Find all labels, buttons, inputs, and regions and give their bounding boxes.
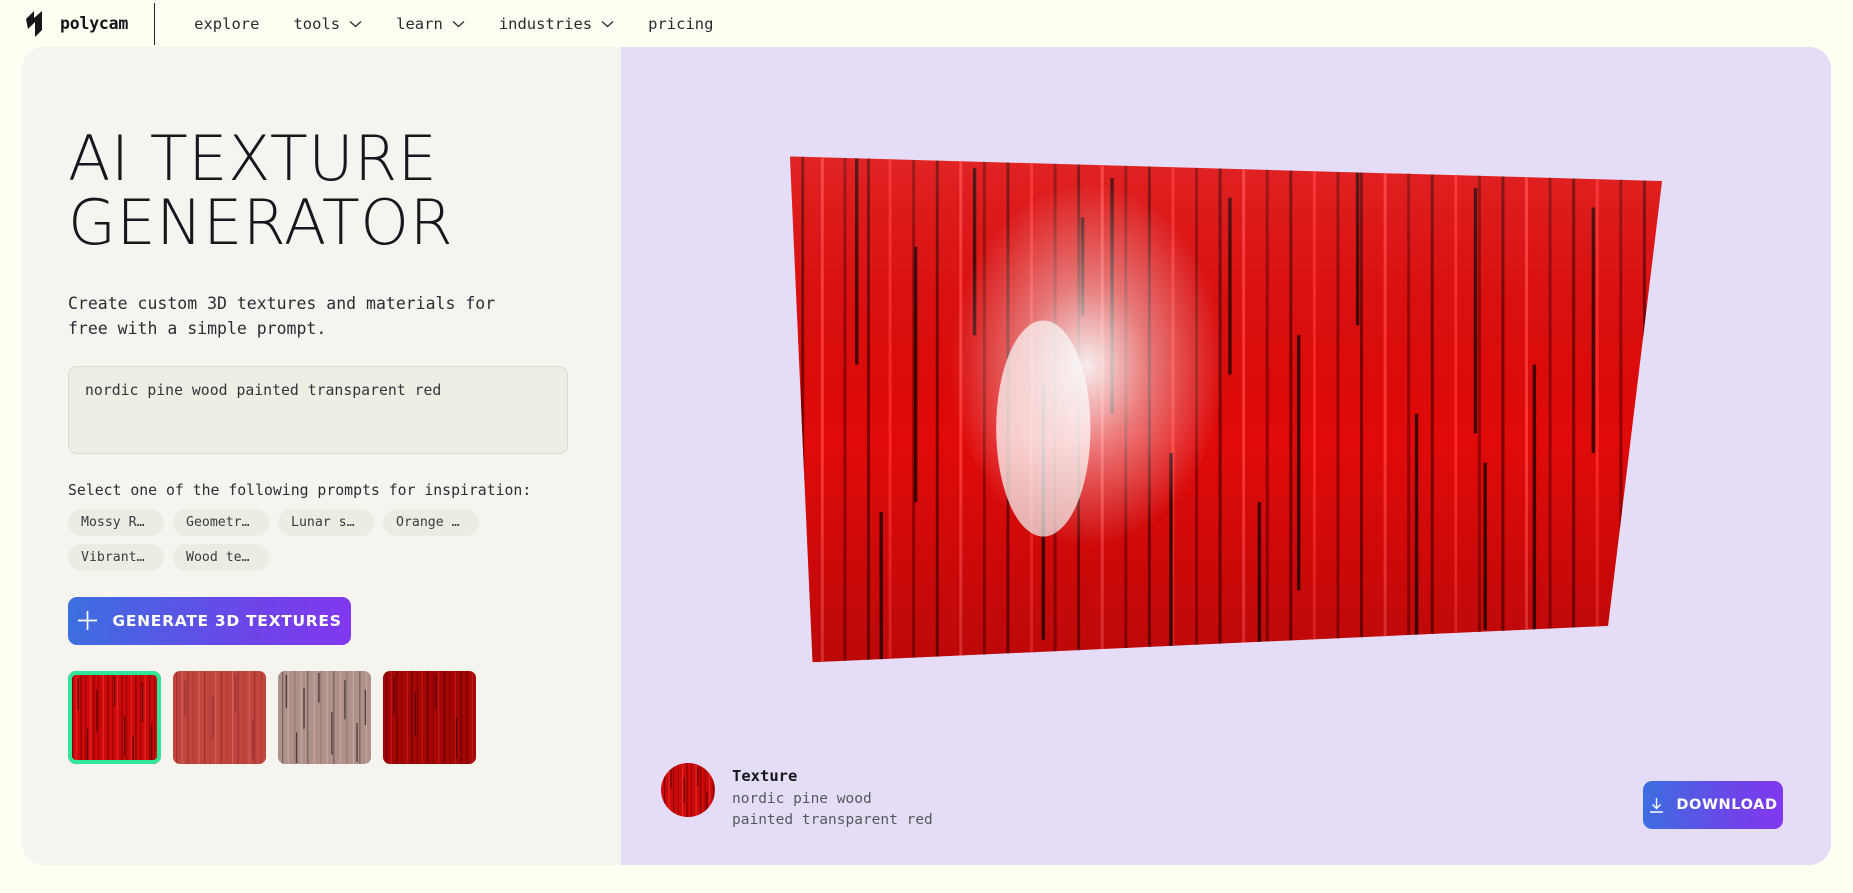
texture-results-list bbox=[68, 671, 542, 764]
page-title-line2: GENERATOR bbox=[68, 186, 453, 259]
chevron-down-icon bbox=[452, 20, 465, 28]
polycam-logo-icon bbox=[22, 10, 48, 38]
inspiration-chip[interactable]: Orange peel… bbox=[383, 509, 479, 536]
page-title: AI TEXTURE GENERATOR bbox=[68, 127, 542, 255]
texture-thumbnail-3[interactable] bbox=[278, 671, 371, 764]
nav-item-label: industries bbox=[499, 15, 592, 33]
chevron-down-icon bbox=[601, 20, 614, 28]
inspiration-chip[interactable]: Mossy Runic… bbox=[68, 509, 164, 536]
generator-content: AI TEXTURE GENERATOR Create custom 3D te… bbox=[22, 47, 542, 764]
top-navigation-bar: polycam explore tools learn industries p… bbox=[0, 0, 1853, 47]
nav-item-explore[interactable]: explore bbox=[177, 9, 276, 39]
texture-info-text: Texture nordic pine wood painted transpa… bbox=[732, 763, 937, 831]
nav-item-learn[interactable]: learn bbox=[379, 9, 482, 39]
main-stage: AI TEXTURE GENERATOR Create custom 3D te… bbox=[0, 47, 1853, 893]
inspiration-chip[interactable]: Lunar surfa… bbox=[278, 509, 374, 536]
inspiration-chip[interactable]: Geometric w… bbox=[173, 509, 269, 536]
nav-item-industries[interactable]: industries bbox=[482, 9, 631, 39]
prompt-input[interactable] bbox=[68, 366, 568, 454]
inspiration-chip[interactable]: Wood textur… bbox=[173, 544, 269, 571]
texture-info-overlay: Texture nordic pine wood painted transpa… bbox=[661, 763, 937, 831]
brand-logo-link[interactable]: polycam bbox=[22, 10, 154, 38]
texture-thumbnail-4[interactable] bbox=[383, 671, 476, 764]
nav-items: explore tools learn industries pricing bbox=[177, 9, 730, 39]
3d-texture-viewer[interactable] bbox=[621, 47, 1831, 865]
texture-thumbnail-1[interactable] bbox=[68, 671, 161, 764]
nav-divider bbox=[154, 3, 155, 45]
nav-item-label: learn bbox=[396, 15, 443, 33]
generate-button-label: GENERATE 3D TEXTURES bbox=[112, 612, 341, 630]
inspiration-chip[interactable]: Vibrant flo… bbox=[68, 544, 164, 571]
nav-item-pricing[interactable]: pricing bbox=[631, 9, 730, 39]
generate-3d-textures-button[interactable]: GENERATE 3D TEXTURES bbox=[68, 597, 351, 645]
generator-panel: AI TEXTURE GENERATOR Create custom 3D te… bbox=[22, 47, 621, 865]
texture-info-title: Texture bbox=[732, 767, 937, 785]
page-title-line1: AI TEXTURE bbox=[68, 122, 437, 195]
nav-item-label: explore bbox=[194, 15, 259, 33]
brand-name: polycam bbox=[60, 14, 128, 33]
chevron-down-icon bbox=[349, 20, 362, 28]
inspiration-chip-list: Mossy Runic… Geometric w… Lunar surfa… O… bbox=[68, 509, 538, 571]
inspiration-label: Select one of the following prompts for … bbox=[68, 482, 542, 499]
download-icon bbox=[1648, 797, 1665, 814]
texture-preview-panel: Texture nordic pine wood painted transpa… bbox=[621, 47, 1831, 865]
nav-item-tools[interactable]: tools bbox=[276, 9, 379, 39]
texture-swatch-circle bbox=[661, 763, 715, 817]
page-subtitle: Create custom 3D textures and materials … bbox=[68, 291, 538, 341]
nav-item-label: pricing bbox=[648, 15, 713, 33]
texture-info-description: nordic pine wood painted transparent red bbox=[732, 789, 937, 831]
plus-icon bbox=[77, 610, 98, 631]
download-button-label: DOWNLOAD bbox=[1676, 797, 1777, 813]
nav-item-label: tools bbox=[293, 15, 340, 33]
download-button[interactable]: DOWNLOAD bbox=[1643, 781, 1783, 829]
texture-thumbnail-2[interactable] bbox=[173, 671, 266, 764]
